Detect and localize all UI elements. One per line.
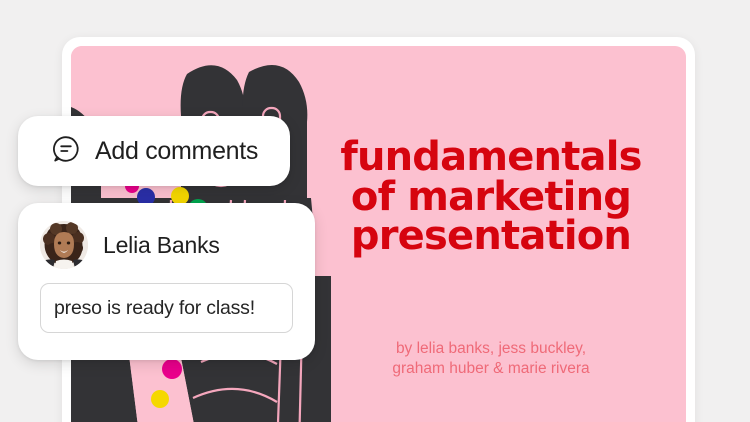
add-comments-button[interactable]: Add comments	[18, 116, 290, 186]
comment-input-value: preso is ready for class!	[54, 297, 255, 320]
app-canvas: fundamentals of marketing presentation b…	[0, 0, 750, 422]
comment-bubble-icon	[51, 134, 81, 169]
comment-author-name: Lelia Banks	[103, 232, 220, 259]
add-comments-label: Add comments	[95, 137, 258, 166]
slide-byline: by lelia banks, jess buckley, graham hub…	[311, 339, 671, 379]
comment-input[interactable]: preso is ready for class!	[40, 283, 293, 333]
avatar[interactable]	[40, 221, 88, 269]
slide-title: fundamentals of marketing presentation	[311, 138, 671, 257]
comment-card[interactable]: Lelia Banks preso is ready for class!	[18, 203, 315, 360]
comment-author-row: Lelia Banks	[40, 221, 293, 269]
